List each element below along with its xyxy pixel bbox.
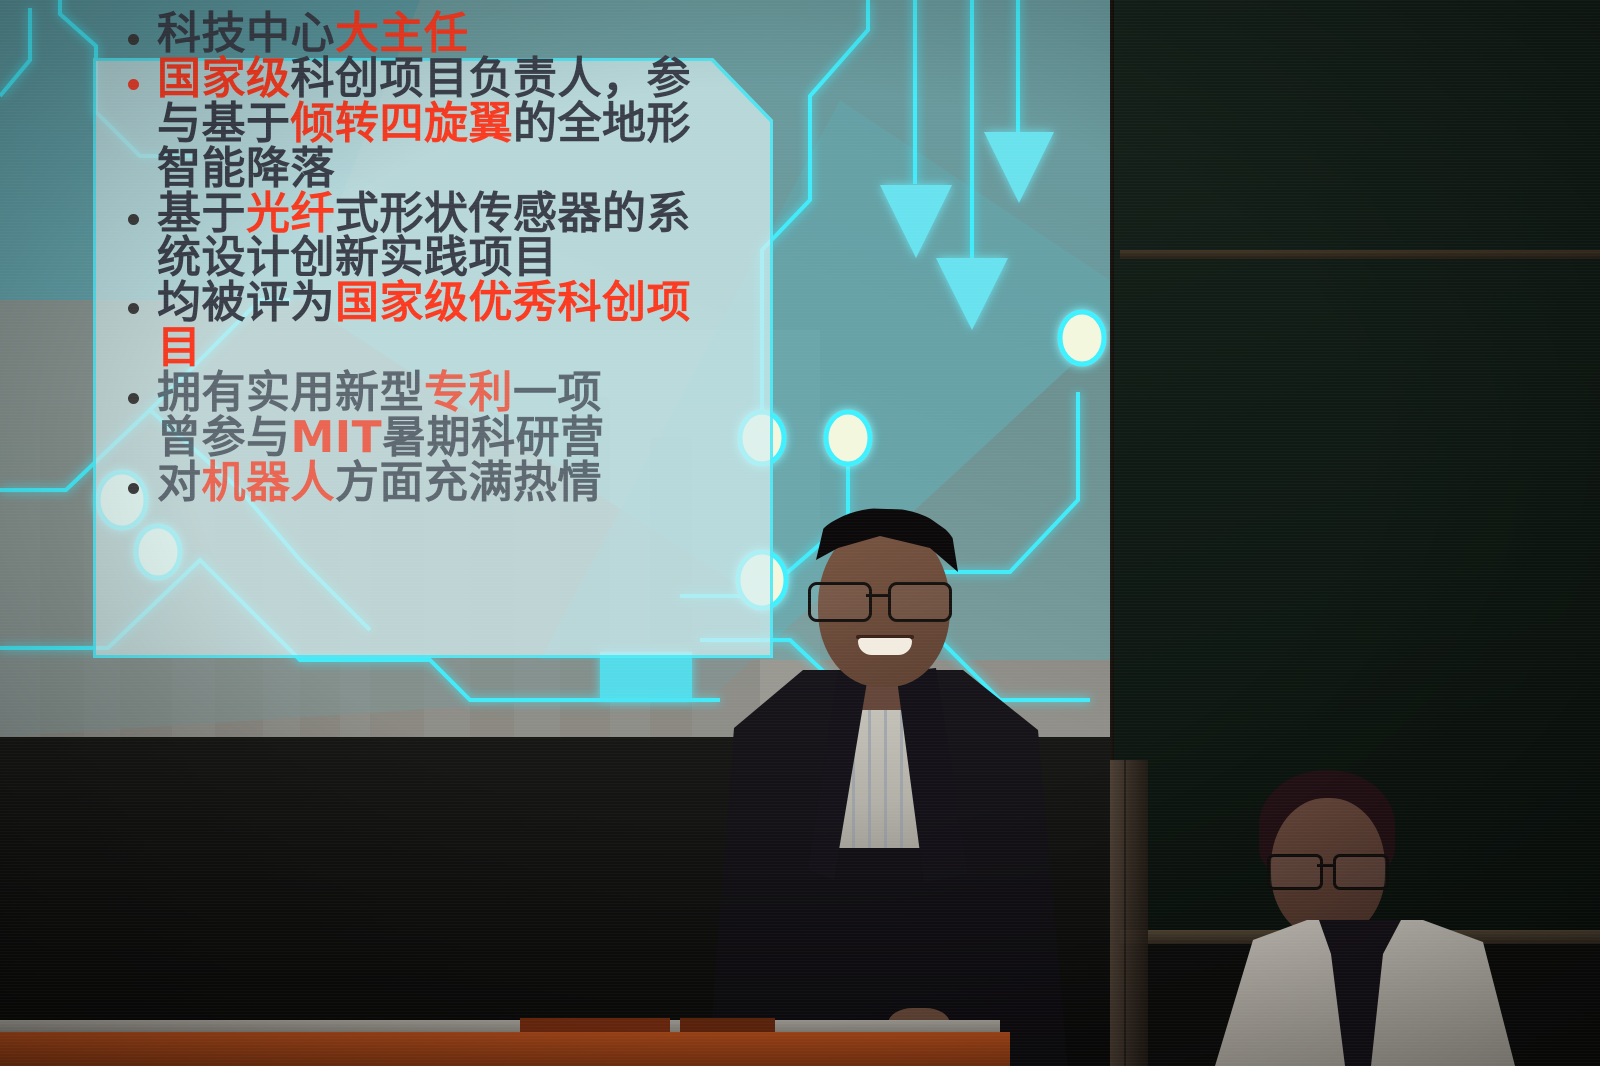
slide-bullet-text: 基于光纤式形状传感器的系 xyxy=(157,192,691,237)
slide-bullet-text: 均被评为国家级优秀科创项 xyxy=(157,281,691,326)
slide-bullet-line: 与基于倾转四旋翼的全地形 xyxy=(128,102,768,147)
bullet-spacer xyxy=(128,348,139,359)
highlight-text: 光纤 xyxy=(246,188,335,239)
highlight-text: 国家级优秀科创项 xyxy=(335,277,691,328)
chalkboard-rail-upper xyxy=(1120,250,1600,259)
slide-bullet-text: 国家级科创项目负责人，参 xyxy=(157,57,691,102)
circuit-block xyxy=(600,652,692,700)
bullet-dot-icon xyxy=(128,483,139,494)
bullet-spacer xyxy=(128,258,139,269)
triangle-marker-1 xyxy=(880,185,952,258)
highlight-text: MIT xyxy=(291,412,383,463)
bullet-dot-icon xyxy=(128,303,139,314)
body-text: 基于 xyxy=(157,188,246,239)
bullet-dot-icon xyxy=(128,393,139,404)
slide-bullet-line: 均被评为国家级优秀科创项 xyxy=(128,281,768,326)
bullet-dot-icon xyxy=(128,214,139,225)
slide-bullet-line: 曾参与MIT暑期科研营 xyxy=(128,416,768,461)
body-text: 统设计创新实践项目 xyxy=(157,232,558,283)
body-text: 拥有实用新型 xyxy=(157,367,424,418)
desk-front xyxy=(0,1032,1010,1066)
highlight-text: 大主任 xyxy=(335,8,469,59)
slide-bullet-text: 统设计创新实践项目 xyxy=(157,236,558,281)
body-text: 方面充满热情 xyxy=(335,457,602,508)
slide-bullet-line: 基于光纤式形状传感器的系 xyxy=(128,192,768,237)
bullet-spacer xyxy=(128,438,139,449)
body-text: 式形状传感器的系 xyxy=(335,188,691,239)
highlight-text: 机器人 xyxy=(202,457,336,508)
circuit-node xyxy=(826,412,870,464)
bullet-spacer xyxy=(128,169,139,180)
slide-bullet-line: 统设计创新实践项目 xyxy=(128,236,768,281)
glasses-icon xyxy=(1267,854,1393,884)
slide-bullet-line: 拥有实用新型专利一项 xyxy=(128,371,768,416)
slide-bullet-line: 目 xyxy=(128,326,768,371)
body-text: 科技中心 xyxy=(157,8,335,59)
triangle-marker-3 xyxy=(984,132,1054,203)
highlight-text: 倾转四旋翼 xyxy=(291,98,514,149)
classroom-photo: 科技中心大主任国家级科创项目负责人，参与基于倾转四旋翼的全地形智能降落基于光纤式… xyxy=(0,0,1600,1066)
highlight-text: 国家级 xyxy=(157,53,291,104)
presenter-teeth xyxy=(858,638,912,655)
triangle-marker-2 xyxy=(936,258,1008,330)
body-text: 智能降落 xyxy=(157,143,335,194)
highlight-text: 目 xyxy=(157,322,202,373)
slide-bullet-line: 对机器人方面充满热情 xyxy=(128,461,768,506)
body-text: 科创项目负责人，参 xyxy=(291,53,692,104)
slide-bullet-text: 科技中心大主任 xyxy=(157,12,469,57)
glasses-icon xyxy=(808,582,964,616)
slide-bullet-text: 与基于倾转四旋翼的全地形 xyxy=(157,102,691,147)
body-text: 的全地形 xyxy=(513,98,691,149)
slide-bullet-list: 科技中心大主任国家级科创项目负责人，参与基于倾转四旋翼的全地形智能降落基于光纤式… xyxy=(128,12,768,506)
bullet-dot-icon xyxy=(128,34,139,45)
highlight-text: 专利 xyxy=(424,367,513,418)
slide-bullet-text: 对机器人方面充满热情 xyxy=(157,461,602,506)
body-text: 均被评为 xyxy=(157,277,335,328)
slide-bullet-line: 国家级科创项目负责人，参 xyxy=(128,57,768,102)
body-text: 暑期科研营 xyxy=(382,412,605,463)
presenter xyxy=(690,500,1070,1066)
slide-bullet-text: 目 xyxy=(157,326,202,371)
slide-bullet-line: 科技中心大主任 xyxy=(128,12,768,57)
bullet-spacer xyxy=(128,124,139,135)
body-text: 对 xyxy=(157,457,202,508)
bullet-dot-icon xyxy=(128,79,139,90)
slide-bullet-text: 智能降落 xyxy=(157,147,335,192)
body-text: 曾参与 xyxy=(157,412,291,463)
seated-student xyxy=(1215,770,1515,1066)
slide-bullet-text: 拥有实用新型专利一项 xyxy=(157,371,602,416)
body-text: 一项 xyxy=(513,367,602,418)
slide-bullet-text: 曾参与MIT暑期科研营 xyxy=(157,416,605,461)
slide-bullet-line: 智能降落 xyxy=(128,147,768,192)
circuit-node xyxy=(1060,312,1104,364)
body-text: 与基于 xyxy=(157,98,291,149)
